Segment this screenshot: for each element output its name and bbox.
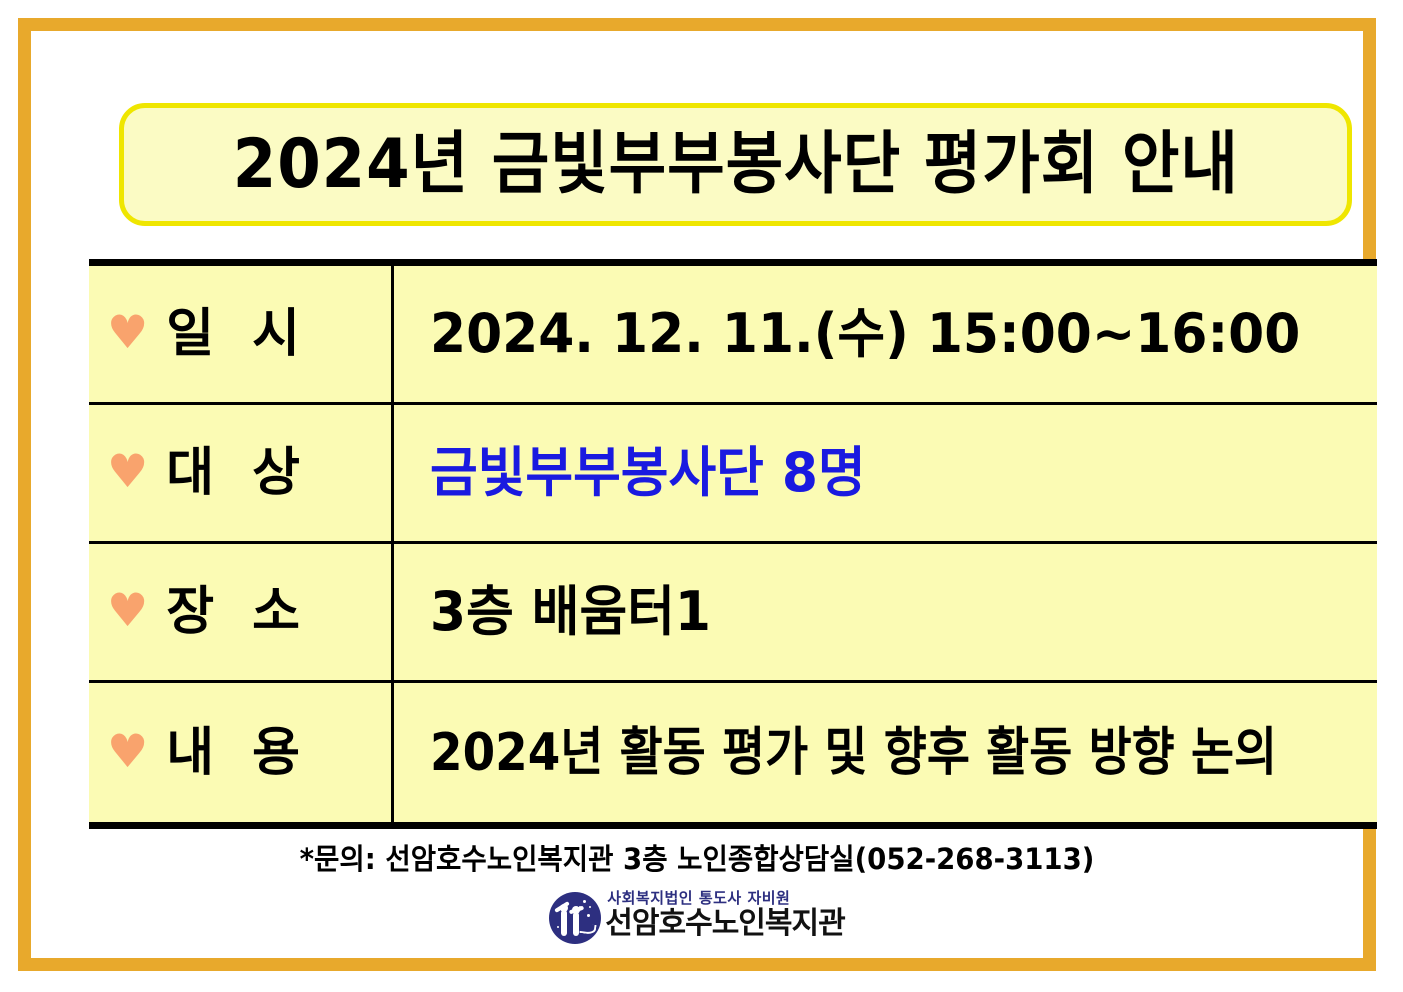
row-label-cell: ♥ 일시	[89, 266, 394, 402]
row-label-text: 대상	[166, 447, 338, 499]
row-label-cell: ♥ 대상	[89, 405, 394, 541]
outer-decorative-frame: 2024년 금빛부부봉사단 평가회 안내 ♥ 일시 2024. 12. 11.(…	[18, 18, 1376, 971]
table-row: ♥ 대상 금빛부부봉사단 8명	[89, 405, 1377, 544]
row-value-text: 2024년 활동 평가 및 향후 활동 방향 논의	[430, 727, 1277, 779]
row-label-cell: ♥ 내용	[89, 683, 394, 822]
heart-icon: ♥	[107, 448, 148, 494]
row-label-text: 일시	[166, 308, 338, 360]
row-value-text: 3층 배움터1	[430, 585, 711, 639]
logo-texts: 사회복지법인 통도사 자비원 선암호수노인복지관	[605, 891, 844, 939]
row-label-cell: ♥ 장소	[89, 544, 394, 680]
table-row: ♥ 일시 2024. 12. 11.(수) 15:00~16:00	[89, 266, 1377, 405]
table-row: ♥ 내용 2024년 활동 평가 및 향후 활동 방향 논의	[89, 683, 1377, 822]
row-value-cell: 금빛부부봉사단 8명	[394, 405, 1377, 541]
title-plate: 2024년 금빛부부봉사단 평가회 안내	[119, 103, 1352, 226]
logo-wrap: 사회복지법인 통도사 자비원 선암호수노인복지관	[549, 886, 844, 944]
heart-icon: ♥	[107, 587, 148, 633]
heart-icon: ♥	[107, 309, 148, 355]
logo-center-name: 선암호수노인복지관	[605, 909, 844, 939]
row-value-text: 금빛부부봉사단 8명	[430, 446, 866, 500]
welfare-center-logo-icon	[549, 892, 601, 944]
row-value-cell: 2024. 12. 11.(수) 15:00~16:00	[394, 266, 1377, 402]
organization-logo: 사회복지법인 통도사 자비원 선암호수노인복지관	[31, 886, 1363, 944]
heart-icon: ♥	[107, 728, 148, 774]
row-label-text: 내용	[166, 727, 338, 779]
row-value-cell: 3층 배움터1	[394, 544, 1377, 680]
info-table: ♥ 일시 2024. 12. 11.(수) 15:00~16:00 ♥ 대상 금…	[89, 259, 1377, 829]
table-row: ♥ 장소 3층 배움터1	[89, 544, 1377, 683]
contact-note: *문의: 선암호수노인복지관 3층 노인종합상담실(052-268-3113)	[64, 836, 1329, 878]
logo-corporation-line: 사회복지법인 통도사 자비원	[607, 891, 844, 906]
row-label-text: 장소	[166, 586, 338, 638]
page-title: 2024년 금빛부부봉사단 평가회 안내	[232, 131, 1238, 199]
row-value-text: 2024. 12. 11.(수) 15:00~16:00	[430, 307, 1300, 361]
poster-root: 2024년 금빛부부봉사단 평가회 안내 ♥ 일시 2024. 12. 11.(…	[0, 0, 1403, 992]
row-value-cell: 2024년 활동 평가 및 향후 활동 방향 논의	[394, 683, 1377, 822]
info-table-inner: ♥ 일시 2024. 12. 11.(수) 15:00~16:00 ♥ 대상 금…	[89, 264, 1377, 824]
